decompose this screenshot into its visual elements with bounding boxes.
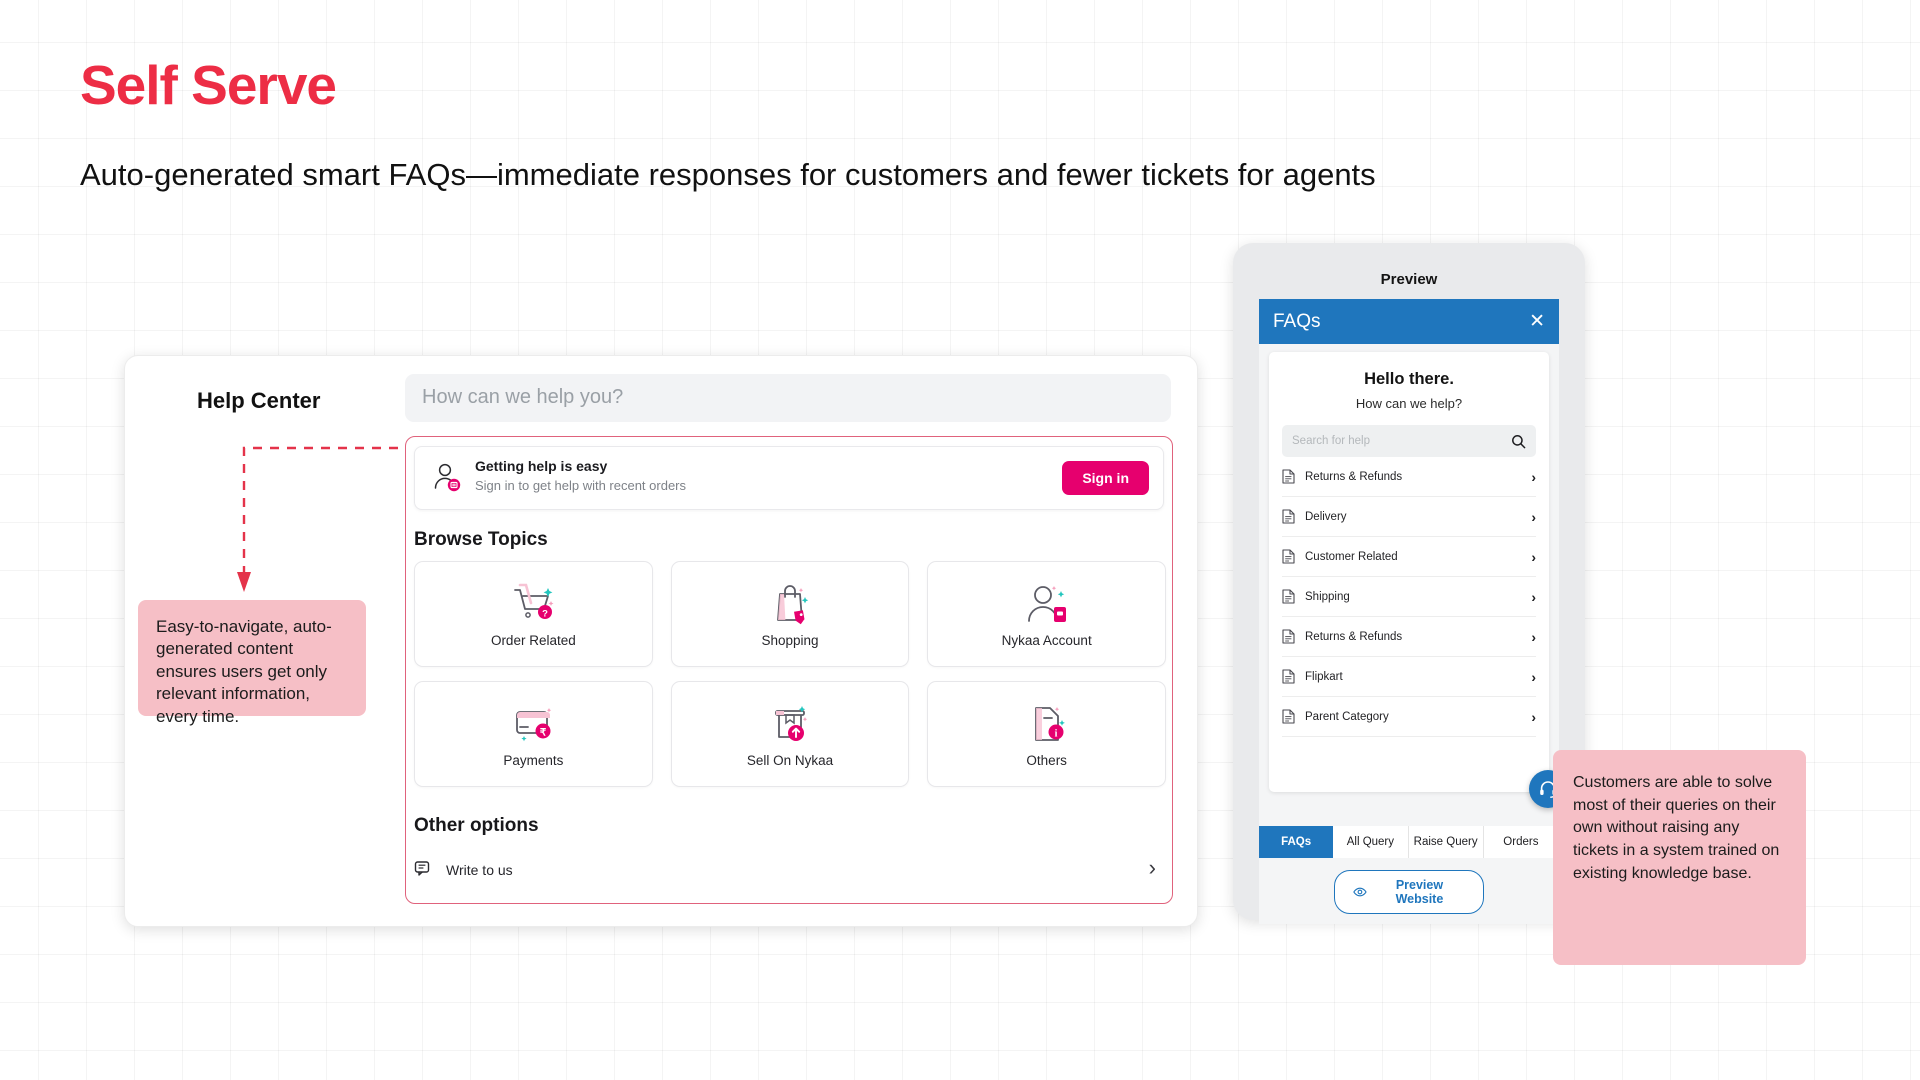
faq-list-item[interactable]: Returns & Refunds›	[1282, 617, 1536, 657]
credit-card-rupee-icon: ₹	[507, 701, 559, 747]
faq-list-item[interactable]: Returns & Refunds›	[1282, 457, 1536, 497]
preview-label: Preview	[1233, 271, 1585, 288]
other-options-heading: Other options	[414, 815, 539, 837]
topic-label: Sell On Nykaa	[747, 753, 833, 768]
faq-search-input[interactable]: Search for help	[1282, 425, 1536, 457]
faq-tab[interactable]: Orders	[1484, 826, 1559, 858]
faq-widget-footer: FAQsAll QueryRaise QueryOrders Preview W…	[1259, 824, 1559, 924]
topic-tile-order-related[interactable]: ? Order Related	[414, 561, 653, 667]
faq-list-item-label: Parent Category	[1305, 711, 1531, 723]
topic-tile-nykaa-account[interactable]: Nykaa Account	[927, 561, 1166, 667]
topic-tile-others[interactable]: i Others	[927, 681, 1166, 787]
topic-label: Nykaa Account	[1002, 633, 1092, 648]
page-title: Self Serve	[80, 58, 336, 113]
chevron-right-icon: ›	[1531, 549, 1536, 565]
document-icon	[1282, 469, 1295, 484]
sign-in-button[interactable]: Sign in	[1062, 461, 1149, 495]
help-center-title: Help Center	[197, 388, 320, 414]
faq-tab[interactable]: Raise Query	[1409, 826, 1484, 858]
document-info-icon: i	[1021, 701, 1073, 747]
shopping-bag-tag-icon	[764, 581, 816, 627]
browse-topics-row-1: ? Order Related Shopping	[414, 561, 1166, 667]
chevron-right-icon: ›	[1531, 709, 1536, 725]
sign-in-subtitle: Sign in to get help with recent orders	[475, 478, 686, 493]
chevron-right-icon: ›	[1531, 509, 1536, 525]
svg-text:?: ?	[542, 608, 548, 619]
chevron-right-icon: ›	[1531, 589, 1536, 605]
topic-tile-sell-on-nykaa[interactable]: Sell On Nykaa	[671, 681, 910, 787]
topic-tile-shopping[interactable]: Shopping	[671, 561, 910, 667]
document-icon	[1282, 509, 1295, 524]
browse-topics-heading: Browse Topics	[414, 529, 548, 551]
sign-in-banner: Getting help is easy Sign in to get help…	[414, 446, 1164, 510]
faq-widget-body: Hello there. How can we help? Search for…	[1259, 344, 1559, 824]
faq-list-item[interactable]: Parent Category›	[1282, 697, 1536, 737]
help-center-search-placeholder: How can we help you?	[422, 386, 623, 409]
callout-left: Easy-to-navigate, auto-generated content…	[138, 600, 366, 716]
faq-widget-title: FAQs	[1273, 311, 1321, 333]
write-to-us-label: Write to us	[446, 862, 513, 878]
chevron-right-icon: ›	[1531, 469, 1536, 485]
faq-search-placeholder: Search for help	[1292, 435, 1370, 447]
faq-list-item[interactable]: Delivery›	[1282, 497, 1536, 537]
page-subtitle: Auto-generated smart FAQs—immediate resp…	[80, 155, 1400, 195]
topic-label: Shopping	[761, 633, 818, 648]
help-center-content-region: Getting help is easy Sign in to get help…	[405, 436, 1173, 904]
eye-icon	[1353, 886, 1367, 898]
document-icon	[1282, 589, 1295, 604]
document-icon	[1282, 549, 1295, 564]
sign-in-title: Getting help is easy	[475, 458, 607, 474]
faq-list-item-label: Returns & Refunds	[1305, 471, 1531, 483]
shopping-cart-question-icon: ?	[507, 581, 559, 627]
close-icon[interactable]: ✕	[1529, 312, 1545, 331]
chevron-right-icon: ›	[1531, 629, 1536, 645]
user-badge-icon	[431, 461, 465, 495]
callout-right: Customers are able to solve most of thei…	[1553, 750, 1806, 965]
topic-label: Order Related	[491, 633, 576, 648]
preview-website-button[interactable]: Preview Website	[1334, 870, 1484, 914]
svg-text:₹: ₹	[540, 727, 547, 738]
chevron-right-icon: ›	[1149, 857, 1156, 879]
search-icon	[1511, 434, 1526, 449]
faq-greeting-sub: How can we help?	[1269, 396, 1549, 411]
help-center-search-input[interactable]: How can we help you?	[405, 374, 1171, 422]
other-option-write-to-us[interactable]: Write to us ›	[414, 847, 1164, 893]
faq-list-item-label: Flipkart	[1305, 671, 1531, 683]
faq-widget: FAQs ✕ Hello there. How can we help? Sea…	[1259, 299, 1559, 879]
topic-tile-payments[interactable]: ₹ Payments	[414, 681, 653, 787]
document-icon	[1282, 629, 1295, 644]
svg-text:i: i	[1054, 728, 1057, 739]
faq-item-list: Returns & Refunds›Delivery›Customer Rela…	[1269, 457, 1549, 737]
preview-website-label: Preview Website	[1374, 878, 1465, 906]
faq-tab-bar: FAQsAll QueryRaise QueryOrders	[1259, 826, 1559, 858]
browse-topics-row-2: ₹ Payments Sell On Nykaa	[414, 681, 1166, 787]
document-icon	[1282, 669, 1295, 684]
faq-greeting: Hello there.	[1269, 370, 1549, 389]
document-icon	[1282, 709, 1295, 724]
user-account-icon	[1021, 581, 1073, 627]
faq-tab[interactable]: All Query	[1333, 826, 1408, 858]
faq-list-item-label: Shipping	[1305, 591, 1531, 603]
faq-widget-header: FAQs ✕	[1259, 299, 1559, 344]
faq-list-item-label: Delivery	[1305, 511, 1531, 523]
topic-label: Payments	[503, 753, 563, 768]
topic-label: Others	[1026, 753, 1067, 768]
faq-list-item[interactable]: Flipkart›	[1282, 657, 1536, 697]
faq-list-card: Hello there. How can we help? Search for…	[1269, 352, 1549, 792]
faq-list-item[interactable]: Customer Related›	[1282, 537, 1536, 577]
store-upload-icon	[764, 701, 816, 747]
faq-list-item[interactable]: Shipping›	[1282, 577, 1536, 617]
faq-list-item-label: Returns & Refunds	[1305, 631, 1531, 643]
chevron-right-icon: ›	[1531, 669, 1536, 685]
faq-list-item-label: Customer Related	[1305, 551, 1531, 563]
faq-tab[interactable]: FAQs	[1259, 826, 1333, 858]
message-write-icon	[414, 860, 434, 880]
preview-phone-frame: Preview FAQs ✕ Hello there. How can we h…	[1233, 243, 1585, 920]
